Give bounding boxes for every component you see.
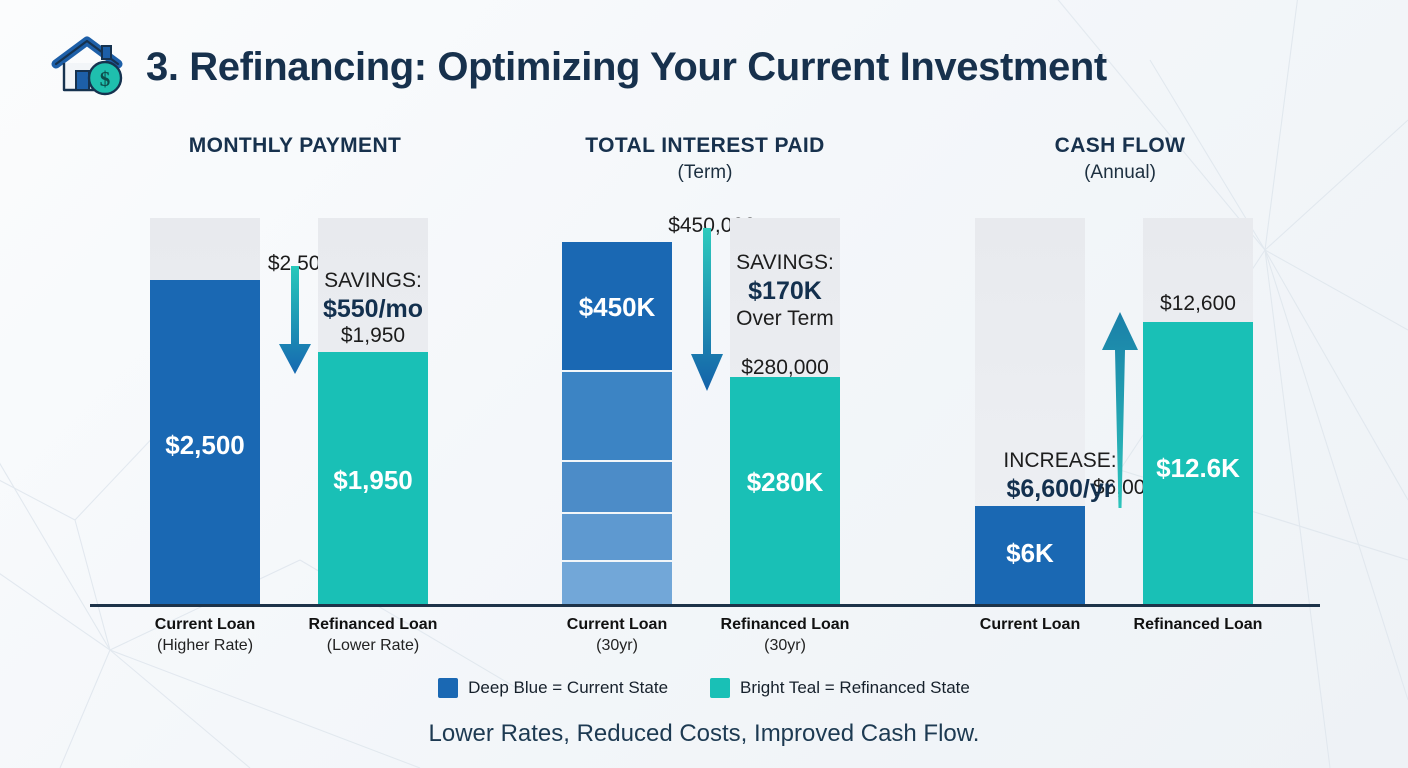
x-label-current-cash-flow: Current Loan bbox=[950, 614, 1110, 635]
panel-subtitle: (Term) bbox=[540, 160, 870, 186]
x-label-line2: (Lower Rate) bbox=[293, 635, 453, 656]
savings-amount: $550/mo bbox=[308, 294, 438, 325]
x-label-current-monthly: Current Loan (Higher Rate) bbox=[125, 614, 285, 656]
bar-value-label: $6K bbox=[975, 538, 1085, 569]
bar-segment bbox=[562, 562, 672, 605]
legend-label: Deep Blue = Current State bbox=[468, 678, 668, 698]
x-label-line2: (30yr) bbox=[705, 635, 865, 656]
panel-title: MONTHLY PAYMENT bbox=[130, 132, 460, 160]
bar-segment bbox=[562, 372, 672, 462]
bar-top-label: $280,000 bbox=[730, 356, 840, 380]
svg-text:$: $ bbox=[100, 67, 111, 91]
bar-current-cash-flow[interactable]: $6K bbox=[975, 506, 1085, 605]
x-label-refinanced-interest: Refinanced Loan (30yr) bbox=[705, 614, 865, 656]
savings-amount: $170K bbox=[720, 276, 850, 307]
plot-total-interest: $450K $450,000 $280K $280,000 SAVINGS: $… bbox=[562, 218, 862, 605]
bar-top-label: $12,600 bbox=[1143, 292, 1253, 316]
down-arrow-icon bbox=[687, 228, 727, 393]
savings-annotation-interest: SAVINGS: $170K Over Term bbox=[720, 250, 850, 332]
up-arrow-icon bbox=[1097, 310, 1143, 510]
legend-swatch-bright-teal bbox=[710, 678, 730, 698]
x-label-refinanced-cash-flow: Refinanced Loan bbox=[1118, 614, 1278, 635]
legend-item-refinanced-state: Bright Teal = Refinanced State bbox=[710, 678, 970, 698]
bar-current-total-interest[interactable]: $450K bbox=[562, 242, 672, 605]
bar-value-label: $1,950 bbox=[318, 465, 428, 496]
bar-refinanced-total-interest[interactable]: $280K bbox=[730, 377, 840, 605]
x-label-line1: Current Loan bbox=[537, 614, 697, 635]
savings-lead: SAVINGS: bbox=[720, 250, 850, 276]
x-label-refinanced-monthly: Refinanced Loan (Lower Rate) bbox=[293, 614, 453, 656]
bar-value-label: $280K bbox=[730, 467, 840, 498]
bar-current-monthly-payment[interactable]: $2,500 bbox=[150, 280, 260, 605]
x-label-current-interest: Current Loan (30yr) bbox=[537, 614, 697, 656]
bar-segment bbox=[562, 514, 672, 562]
header: $ 3. Refinancing: Optimizing Your Curren… bbox=[50, 36, 1107, 98]
panel-total-interest-paid: TOTAL INTEREST PAID (Term) bbox=[540, 132, 870, 186]
panel-title: CASH FLOW bbox=[955, 132, 1285, 160]
x-label-line1: Refinanced Loan bbox=[1118, 614, 1278, 635]
infographic-canvas: $ 3. Refinancing: Optimizing Your Curren… bbox=[0, 0, 1408, 768]
page-title: 3. Refinancing: Optimizing Your Current … bbox=[146, 45, 1107, 90]
savings-tail: Over Term bbox=[720, 306, 850, 332]
house-with-dollar-icon: $ bbox=[50, 36, 128, 98]
legend-item-current-state: Deep Blue = Current State bbox=[438, 678, 668, 698]
panel-subtitle: (Annual) bbox=[955, 160, 1285, 186]
x-label-line1: Current Loan bbox=[950, 614, 1110, 635]
bar-value-label: $2,500 bbox=[150, 430, 260, 461]
bar-segment bbox=[562, 462, 672, 514]
x-axis-line bbox=[90, 604, 1320, 607]
bar-top-label: $1,950 bbox=[318, 324, 428, 348]
savings-annotation-monthly: SAVINGS: $550/mo bbox=[308, 268, 438, 324]
panel-cash-flow: CASH FLOW (Annual) bbox=[955, 132, 1285, 186]
x-label-line1: Refinanced Loan bbox=[705, 614, 865, 635]
x-label-line1: Current Loan bbox=[125, 614, 285, 635]
x-label-line1: Refinanced Loan bbox=[293, 614, 453, 635]
bar-segment: $450K bbox=[562, 242, 672, 372]
x-label-line2: (Higher Rate) bbox=[125, 635, 285, 656]
panel-title: TOTAL INTEREST PAID bbox=[540, 132, 870, 160]
footer-tagline: Lower Rates, Reduced Costs, Improved Cas… bbox=[0, 720, 1408, 748]
plot-cash-flow: $6K $6,000 $12.6K $12,600 INCREASE: $6,6… bbox=[975, 218, 1275, 605]
legend-swatch-deep-blue bbox=[438, 678, 458, 698]
bar-value-label: $450K bbox=[562, 292, 672, 323]
savings-lead: SAVINGS: bbox=[308, 268, 438, 294]
bar-value-label: $12.6K bbox=[1143, 453, 1253, 484]
plot-monthly-payment: $2,500 $2,500 $1,950 $1,950 SAVINGS: $55… bbox=[150, 218, 450, 605]
bar-refinanced-monthly-payment[interactable]: $1,950 bbox=[318, 352, 428, 605]
down-arrow-icon bbox=[275, 266, 315, 376]
legend: Deep Blue = Current State Bright Teal = … bbox=[0, 678, 1408, 698]
panel-monthly-payment: MONTHLY PAYMENT bbox=[130, 132, 460, 160]
legend-label: Bright Teal = Refinanced State bbox=[740, 678, 970, 698]
bar-refinanced-cash-flow[interactable]: $12.6K bbox=[1143, 322, 1253, 605]
x-label-line2: (30yr) bbox=[537, 635, 697, 656]
